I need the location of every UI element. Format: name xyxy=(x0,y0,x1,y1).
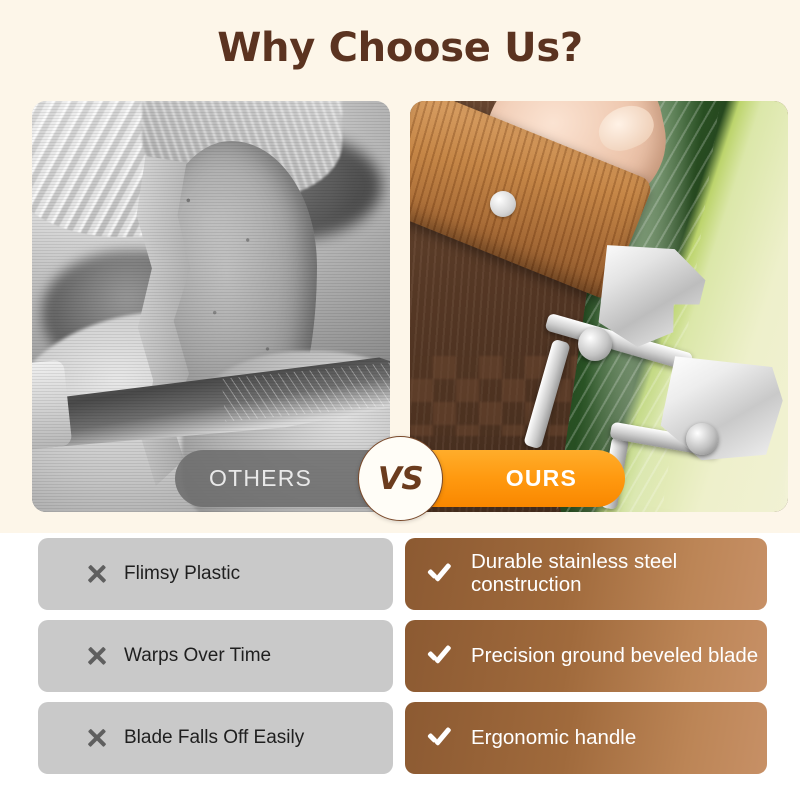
blade-pivot-screw xyxy=(686,423,718,455)
others-photo-card xyxy=(32,101,390,512)
comparison-table: Flimsy Plastic Durable stainless steel c… xyxy=(0,538,800,784)
con-label: Blade Falls Off Easily xyxy=(124,727,304,749)
pro-label: Durable stainless steel construction xyxy=(471,551,767,597)
check-icon xyxy=(427,643,457,669)
con-cell: Flimsy Plastic xyxy=(38,538,393,610)
con-cell: Blade Falls Off Easily xyxy=(38,702,393,774)
pro-cell: Ergonomic handle xyxy=(405,702,767,774)
pro-cell: Precision ground beveled blade xyxy=(405,620,767,692)
comparison-row: Flimsy Plastic Durable stainless steel c… xyxy=(0,538,800,610)
con-label: Flimsy Plastic xyxy=(124,563,240,585)
promo-graphic-root: Why Choose Us? xyxy=(0,0,800,800)
x-icon xyxy=(86,645,108,667)
color-photo-wooden-peeler-on-melon xyxy=(410,101,788,512)
page-title: Why Choose Us? xyxy=(0,25,800,71)
photo-grain-overlay xyxy=(32,101,390,512)
x-icon xyxy=(86,727,108,749)
pro-label: Ergonomic handle xyxy=(471,727,636,750)
check-icon xyxy=(427,725,457,751)
check-icon xyxy=(427,561,457,587)
ours-photo-card xyxy=(410,101,788,512)
comparison-row: Warps Over Time Precision ground beveled… xyxy=(0,620,800,692)
pro-cell: Durable stainless steel construction xyxy=(405,538,767,610)
con-cell: Warps Over Time xyxy=(38,620,393,692)
comparison-row: Blade Falls Off Easily Ergonomic handle xyxy=(0,702,800,774)
handle-rivet xyxy=(490,191,516,217)
con-label: Warps Over Time xyxy=(124,645,271,667)
grayscale-photo-knife-peeling-potato xyxy=(32,101,390,512)
peeler-pivot-screw xyxy=(578,327,612,361)
x-icon xyxy=(86,563,108,585)
pro-label: Precision ground beveled blade xyxy=(471,645,758,668)
